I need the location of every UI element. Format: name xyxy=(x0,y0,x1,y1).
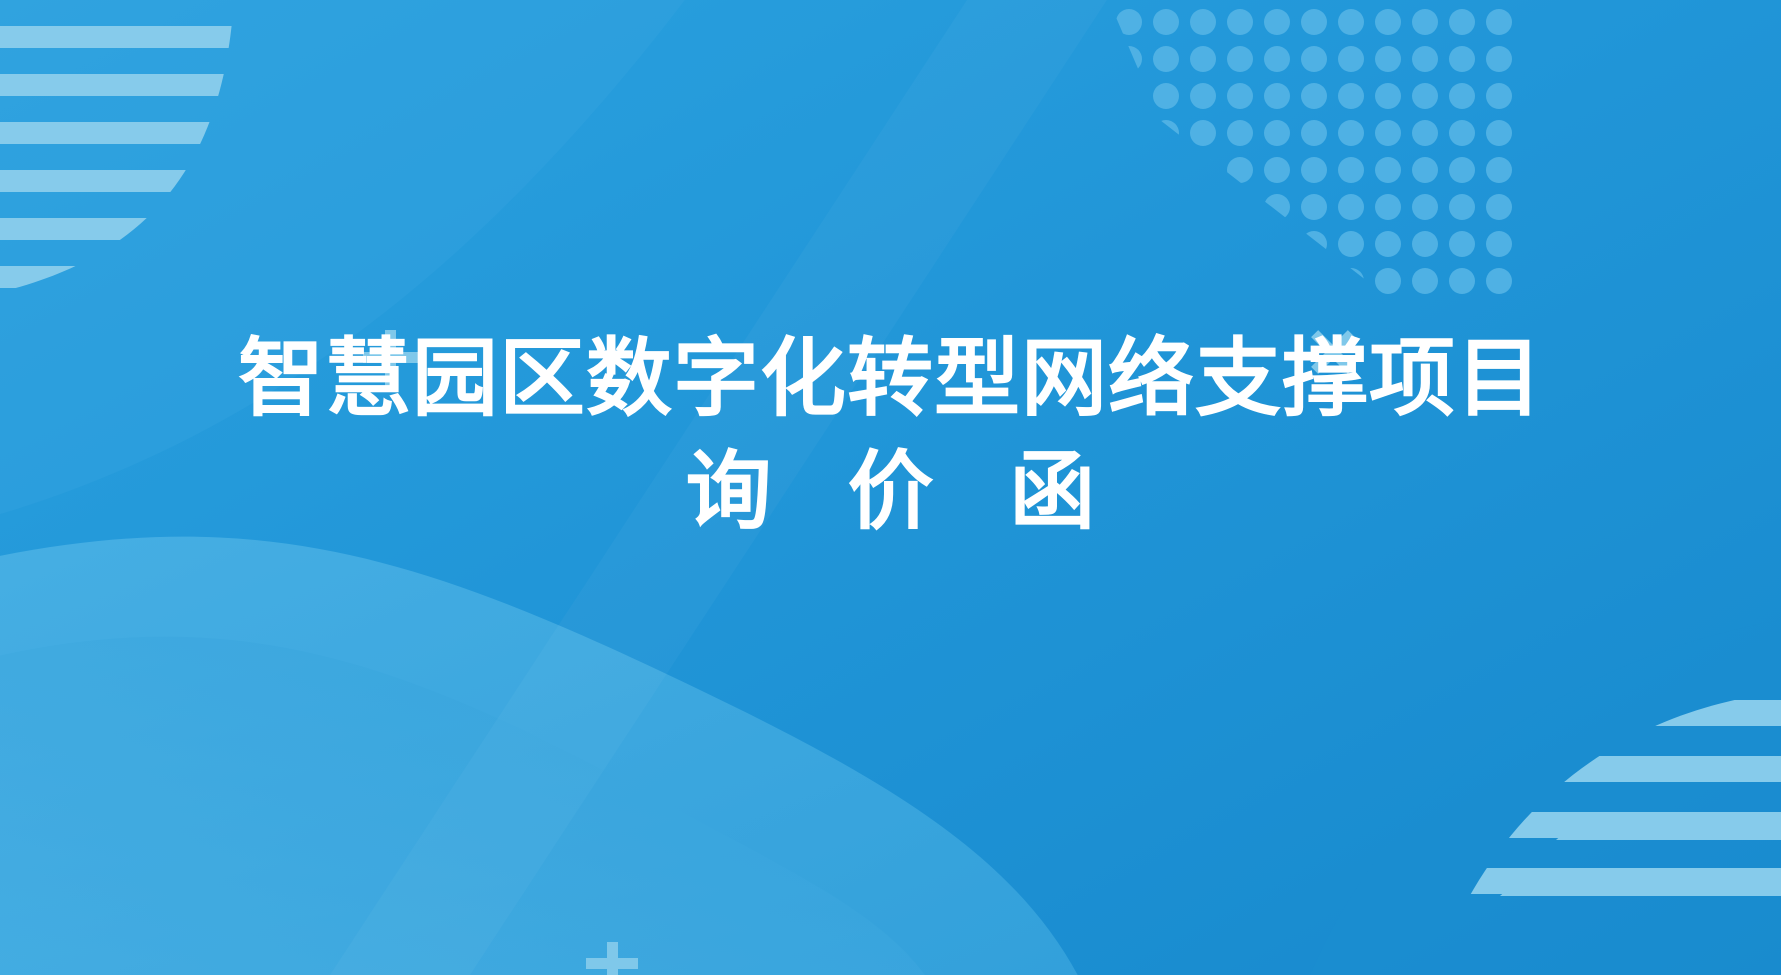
stripes-top-left xyxy=(0,26,260,288)
wave-left xyxy=(0,537,1090,975)
dot-grid-top-right xyxy=(1079,9,1512,294)
title-block: 智慧园区数字化转型网络支撑项目 询 价 函 xyxy=(0,330,1781,542)
cover-slide: 智慧园区数字化转型网络支撑项目 询 价 函 xyxy=(0,0,1781,975)
title-line-1: 智慧园区数字化转型网络支撑项目 xyxy=(0,330,1781,429)
stripes-bottom-right-tails xyxy=(1500,812,1781,896)
stripes-bottom-right xyxy=(1400,700,1781,894)
wave-left-inner xyxy=(0,637,940,975)
title-line-2: 询 价 函 xyxy=(0,443,1781,542)
background-sweep-bottom-right xyxy=(1300,620,1781,975)
plus-mark-bottom xyxy=(586,942,638,975)
